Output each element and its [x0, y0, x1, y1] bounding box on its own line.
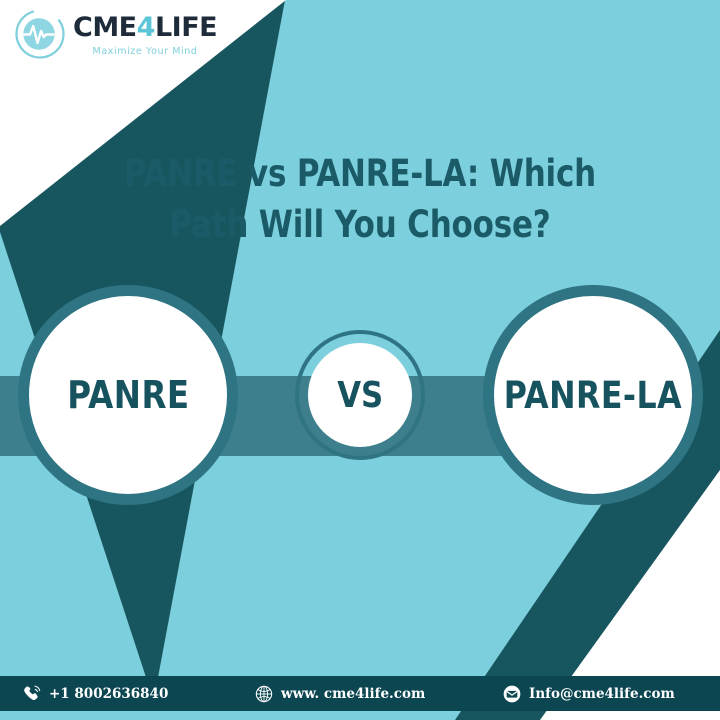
brand-name-part2: LIFE: [155, 12, 217, 43]
brand-name-part1: CME: [73, 12, 137, 43]
footer-website[interactable]: www. cme4life.com: [254, 684, 425, 704]
page-title-line1: PANRE vs PANRE-LA: Which: [124, 152, 596, 195]
footer-phone-text: +1 8002636840: [49, 686, 168, 702]
brand-wordmark: CME4LIFE Maximize Your Mind: [73, 14, 217, 57]
page-title: PANRE vs PANRE-LA: Which Path Will You C…: [25, 148, 695, 250]
envelope-icon: [502, 684, 522, 704]
poster-canvas: CME4LIFE Maximize Your Mind PANRE vs PAN…: [0, 0, 720, 720]
page-title-line2: Path Will You Choose?: [25, 199, 695, 250]
option-panre-circle[interactable]: PANRE: [18, 285, 238, 505]
phone-icon: [22, 684, 42, 704]
globe-icon: [254, 684, 274, 704]
footer-phone[interactable]: +1 8002636840: [22, 684, 168, 704]
versus-label: VS: [337, 375, 383, 416]
brand-name: CME4LIFE: [73, 14, 217, 41]
brand-tagline: Maximize Your Mind: [93, 46, 198, 57]
footer-email[interactable]: Info@cme4life.com: [502, 684, 675, 704]
footer-email-text: Info@cme4life.com: [529, 686, 675, 702]
brand-logo[interactable]: CME4LIFE Maximize Your Mind: [14, 8, 217, 60]
versus-badge: VS: [308, 343, 412, 447]
contact-footer: +1 8002636840 www. cme4life.com Info@cme…: [0, 676, 720, 711]
brand-name-accent: 4: [137, 12, 155, 43]
option-panre-label: PANRE: [67, 373, 189, 417]
footer-website-text: www. cme4life.com: [281, 686, 425, 702]
option-panre-la-circle[interactable]: PANRE-LA: [483, 285, 703, 505]
pulse-circle-icon: [14, 8, 66, 60]
option-panre-la-label: PANRE-LA: [504, 374, 682, 417]
